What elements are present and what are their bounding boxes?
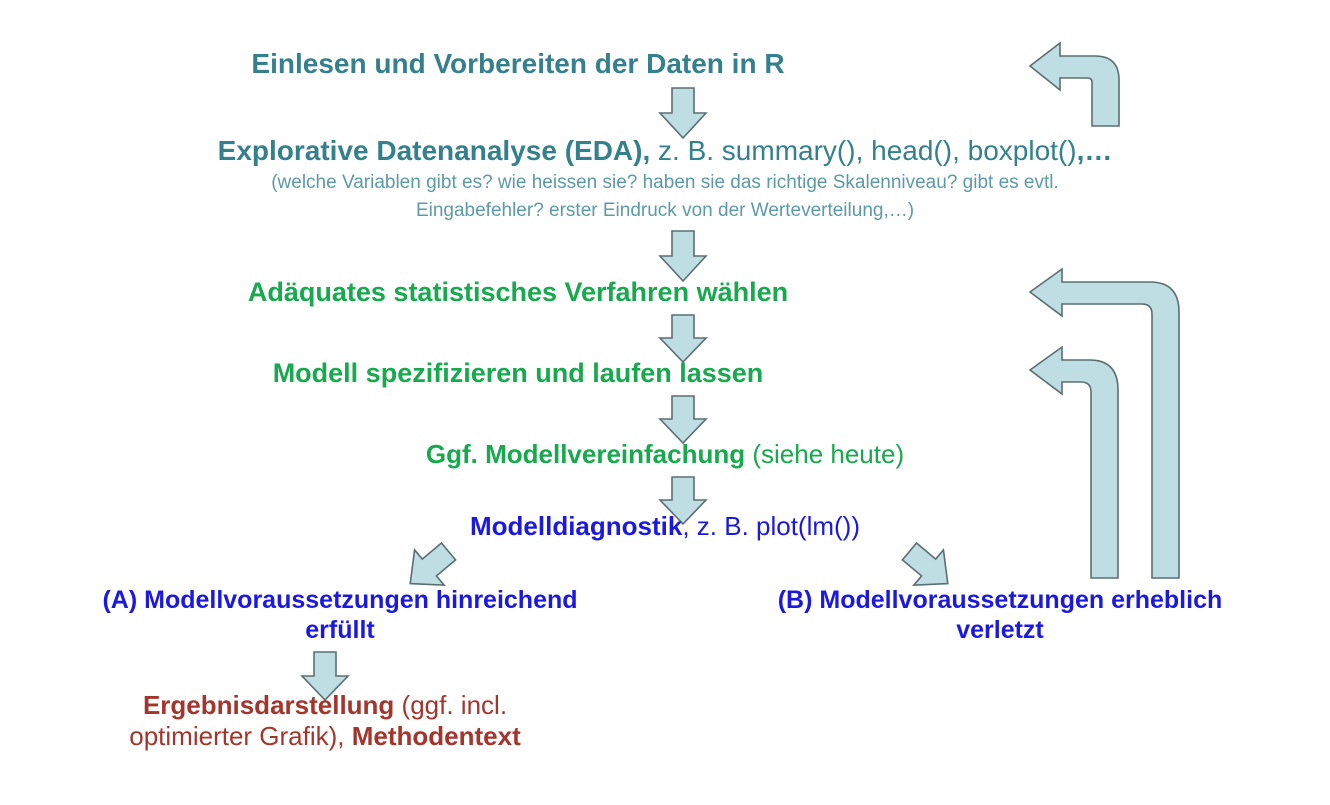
node-result-bold2: Methodentext [352,721,521,751]
node-step3-label: Adäquates statistisches Verfahren wählen [248,277,788,307]
node-result-regular2: optimierter Grafik), [129,721,352,751]
node-result-line1: Ergebnisdarstellung (ggf. incl. [35,690,615,721]
node-result-regular1: (ggf. incl. [394,690,507,720]
node-branch-a-line1: (A) Modellvoraussetzungen hinreichend [20,586,660,616]
node-step4-label: Modell spezifizieren und laufen lassen [273,358,764,388]
node-step2-note-line1: (welche Variablen gibt es? wie heissen s… [0,172,1330,194]
node-result-bold1: Ergebnisdarstellung [143,690,394,720]
node-step6: Modelldiagnostik, z. B. plot(lm()) [0,511,1330,542]
node-result-line2: optimierter Grafik), Methodentext [35,721,615,752]
node-branch-b: (B) Modellvoraussetzungen erheblich verl… [690,586,1310,645]
node-step1: Einlesen und Vorbereiten der Daten in R [0,47,1036,80]
node-result: Ergebnisdarstellung (ggf. incl. optimier… [35,690,615,751]
node-step2: Explorative Datenanalyse (EDA), z. B. su… [0,134,1330,167]
down-arrow-step1-step2 [660,88,706,138]
node-step5: Ggf. Modellvereinfachung (siehe heute) [0,439,1330,470]
node-branch-a-line2: erfüllt [20,616,660,646]
down-arrow-step4-step5 [660,396,706,443]
node-step5-label-bold: Ggf. Modellvereinfachung [426,439,745,469]
node-step2-note-line2-label: Eingabefehler? erster Eindruck von der W… [416,200,914,221]
node-branch-b-line2: verletzt [690,616,1310,646]
node-step4: Modell spezifizieren und laufen lassen [0,358,1036,390]
node-step6-label-bold: Modelldiagnostik [470,511,682,541]
node-step2-note-line2: Eingabefehler? erster Eindruck von der W… [0,200,1330,222]
node-step3: Adäquates statistisches Verfahren wählen [0,277,1036,309]
down-arrow-step3-step4 [660,315,706,362]
down-arrow-step2-step3 [660,231,706,281]
feedback-arrow-to-step1 [1030,43,1119,126]
node-step2-label-regular: z. B. summary(), head(), boxplot() [650,135,1076,166]
node-branch-b-line1: (B) Modellvoraussetzungen erheblich [690,586,1310,616]
node-step6-label-regular: , z. B. plot(lm()) [682,511,860,541]
node-step2-label-tail: ,… [1077,135,1113,166]
node-branch-a: (A) Modellvoraussetzungen hinreichend er… [20,586,660,645]
node-step2-note-line1-label: (welche Variablen gibt es? wie heissen s… [271,172,1059,193]
node-step2-label-bold: Explorative Datenanalyse (EDA), [218,135,651,166]
flowchart-canvas: Einlesen und Vorbereiten der Daten in R … [0,0,1330,805]
node-step5-label-regular: (siehe heute) [745,439,904,469]
node-step1-label: Einlesen und Vorbereiten der Daten in R [251,48,784,79]
connector-layer [0,0,1330,805]
